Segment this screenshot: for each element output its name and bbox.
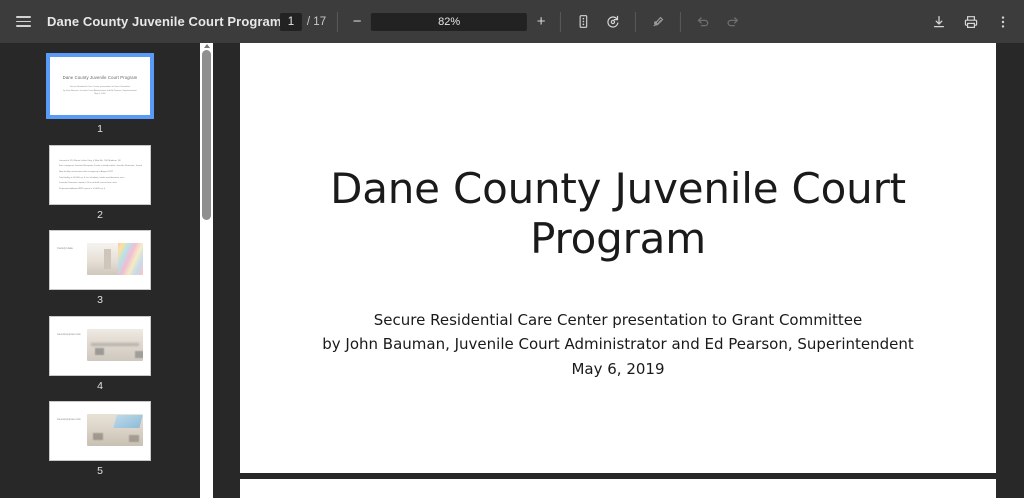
undo-icon [695, 14, 711, 30]
mini-slide-label: Custody Intake [55, 237, 87, 283]
slide-subtitle: Secure Residential Care Center presentat… [268, 308, 968, 381]
page-number-input[interactable] [280, 13, 302, 31]
slide-page-2 [240, 479, 996, 498]
thumbnail-page-4[interactable]: General purpose room [49, 316, 151, 376]
thumbnail-item[interactable]: General purpose room 4 [0, 316, 200, 392]
thumbnail-item[interactable]: General purpose room 5 [0, 401, 200, 477]
slide-subtitle-line: Secure Residential Care Center presentat… [268, 308, 968, 332]
thumbnail-item[interactable]: Custody Intake 3 [0, 230, 200, 306]
thumbnail-item[interactable]: Dane County Juvenile Court Program Secur… [0, 53, 200, 135]
download-button[interactable] [924, 7, 954, 37]
mini-bullet: Proposed additional 8911 space is 10,000… [59, 187, 142, 193]
page-viewer[interactable]: Dane County Juvenile Court Program Secur… [213, 43, 1024, 498]
page-navigation: / 17 [276, 13, 330, 31]
hamburger-menu-button[interactable] [8, 7, 38, 37]
mini-slide-subtitle: Secure Residential Care Center presentat… [63, 86, 136, 97]
toolbar-left-group: Dane County Juvenile Court Program [0, 0, 282, 43]
redo-icon [725, 14, 741, 30]
document-title: Dane County Juvenile Court Program [47, 14, 282, 29]
annotate-pen-icon [650, 14, 666, 30]
scroll-up-arrow-icon [204, 44, 210, 48]
print-button[interactable] [956, 7, 986, 37]
more-options-icon [995, 14, 1011, 30]
mini-slide-title: Dane County Juvenile Court Program [63, 75, 138, 81]
toolbar-divider-2 [560, 12, 561, 32]
undo-button[interactable] [688, 7, 718, 37]
toolbar-right-group [924, 0, 1018, 43]
skylight-room-photo [87, 414, 143, 446]
toolbar-divider-1 [337, 12, 338, 32]
open-room-photo [87, 329, 143, 361]
mini-slide-content: Custody Intake [50, 231, 150, 289]
mini-slide-content: General purpose room [50, 317, 150, 375]
thumbnail-number: 5 [97, 466, 103, 477]
zoom-in-button[interactable]: + [529, 10, 553, 34]
sidebar-scrollbar-thumb[interactable] [202, 50, 211, 220]
thumbnail-number: 3 [97, 295, 103, 306]
fit-to-page-icon [576, 14, 591, 29]
slide-subtitle-line: May 6, 2019 [268, 357, 968, 381]
rotate-icon [605, 14, 621, 30]
sidebar-scrollbar[interactable] [200, 43, 213, 498]
mini-slide-label: General purpose room [55, 408, 87, 454]
thumbnail-item[interactable]: Located at 210 Martin Luther King Jr Blv… [0, 145, 200, 221]
hamburger-menu-icon [16, 16, 31, 27]
zoom-level-input[interactable] [371, 13, 527, 31]
mini-slide-label: General purpose room [55, 323, 87, 369]
mini-slide-content: Dane County Juvenile Court Program Secur… [50, 57, 150, 115]
toolbar-divider-3 [635, 12, 636, 32]
thumbnail-sidebar[interactable]: Dane County Juvenile Court Program Secur… [0, 43, 200, 498]
zoom-controls: − + [345, 10, 553, 34]
redo-button[interactable] [718, 7, 748, 37]
toolbar-center-group: / 17 − + [276, 0, 748, 43]
print-icon [963, 14, 979, 30]
thumbnail-number: 1 [97, 124, 103, 135]
slide-subtitle-line: by John Bauman, Juvenile Court Administr… [268, 332, 968, 356]
thumbnail-page-1[interactable]: Dane County Juvenile Court Program Secur… [46, 53, 154, 119]
thumbnail-page-2[interactable]: Located at 210 Martin Luther King Jr Blv… [49, 145, 151, 205]
top-toolbar: Dane County Juvenile Court Program / 17 … [0, 0, 1024, 43]
fit-to-page-button[interactable] [568, 7, 598, 37]
hallway-mural-photo [87, 243, 143, 275]
mini-sub-line: May 6, 2019 [63, 93, 136, 97]
download-icon [931, 14, 947, 30]
mini-slide-content: Located at 210 Martin Luther King Jr Blv… [50, 146, 150, 204]
page-total-label: / 17 [307, 16, 326, 28]
toolbar-divider-4 [680, 12, 681, 32]
thumbnail-number: 4 [97, 381, 103, 392]
thumbnail-number: 2 [97, 210, 103, 221]
zoom-out-button[interactable]: − [345, 10, 369, 34]
thumbnail-list: Dane County Juvenile Court Program Secur… [0, 43, 200, 487]
mini-slide-content: General purpose room [50, 402, 150, 460]
slide-page-1: Dane County Juvenile Court Program Secur… [240, 43, 996, 473]
rotate-button[interactable] [598, 7, 628, 37]
thumbnail-page-3[interactable]: Custody Intake [49, 230, 151, 290]
pdf-viewer-app: Dane County Juvenile Court Program / 17 … [0, 0, 1024, 498]
slide-title: Dane County Juvenile Court Program [308, 164, 928, 263]
more-options-button[interactable] [988, 7, 1018, 37]
thumbnail-page-5[interactable]: General purpose room [49, 401, 151, 461]
scroll-up-arrow-button[interactable] [200, 43, 213, 49]
slide-content: Dane County Juvenile Court Program Secur… [240, 43, 996, 473]
annotate-button[interactable] [643, 7, 673, 37]
